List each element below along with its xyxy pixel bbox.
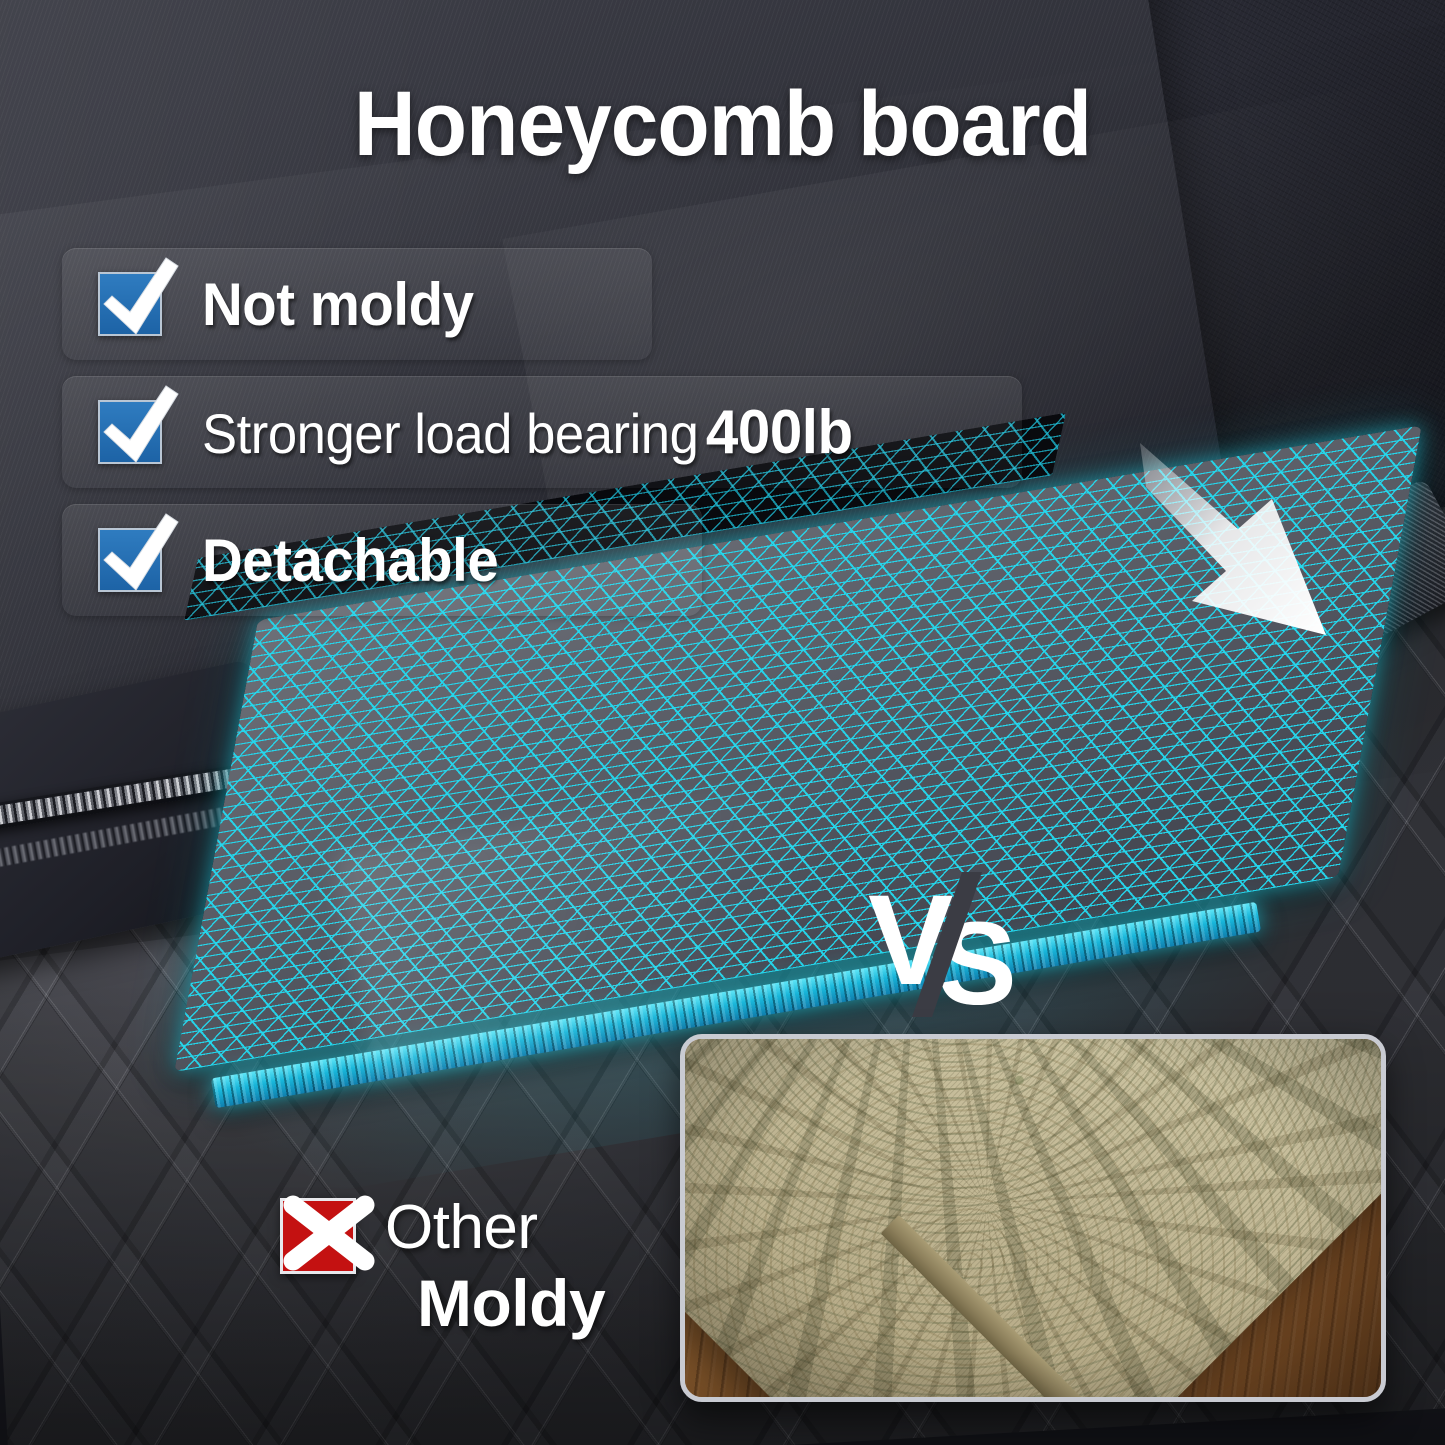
negative-label-line2: Moldy bbox=[417, 1265, 605, 1341]
product-infographic: Honeycomb board Not moldy Stronger load … bbox=[0, 0, 1445, 1445]
feature-label: Stronger load bearing bbox=[202, 402, 698, 465]
checkbox-checked-icon bbox=[98, 528, 162, 592]
feature-label: Not moldy bbox=[202, 270, 473, 339]
page-title: Honeycomb board bbox=[51, 72, 1395, 177]
checkbox-checked-icon bbox=[98, 272, 162, 336]
feature-row-load-bearing: Stronger load bearing400lb bbox=[62, 376, 1022, 488]
feature-row-detachable: Detachable bbox=[62, 504, 702, 616]
feature-row-not-moldy: Not moldy bbox=[62, 248, 652, 360]
feature-checklist: Not moldy Stronger load bearing400lb Det… bbox=[62, 248, 1062, 632]
feature-label: Detachable bbox=[202, 526, 498, 595]
versus-badge: V S bbox=[866, 872, 1026, 1017]
negative-label-line1: Other bbox=[385, 1192, 605, 1263]
feature-emphasis-value: 400lb bbox=[706, 398, 853, 467]
x-mark-icon bbox=[280, 1198, 356, 1274]
negative-comparison-label: Other Moldy bbox=[385, 1192, 605, 1341]
feature-label-group: Stronger load bearing400lb bbox=[202, 397, 853, 468]
honeycomb-board-graphic bbox=[88, 560, 1223, 1080]
down-right-arrow-icon bbox=[1140, 425, 1420, 665]
checkbox-checked-icon bbox=[98, 400, 162, 464]
moldy-board-photo bbox=[680, 1034, 1386, 1402]
